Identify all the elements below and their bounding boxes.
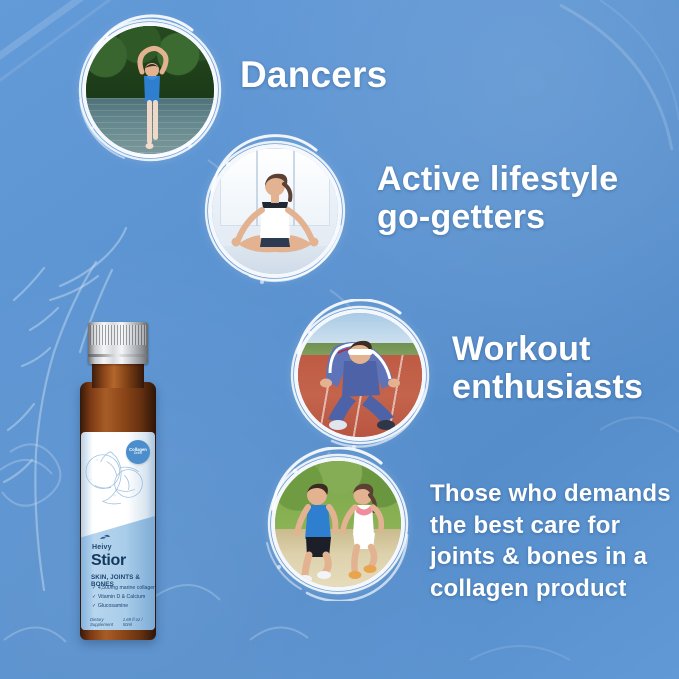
label-bullet-1: ✓ 4,500mg marine collagen xyxy=(92,585,155,591)
bubble-runner-photo xyxy=(298,313,422,437)
bubble-yoga xyxy=(212,148,338,274)
bottle-cap xyxy=(88,322,148,364)
label-bullet-1-text: 4,500mg marine collagen xyxy=(98,585,155,591)
headline-those-line2: the best care for xyxy=(430,510,671,542)
headline-dancers: Dancers xyxy=(240,54,387,95)
bubble-joggers xyxy=(275,461,401,587)
bubble-yoga-photo xyxy=(212,148,338,274)
headline-dancers-line1: Dancers xyxy=(240,54,387,95)
label-logo-mark xyxy=(81,432,155,630)
headline-those-line3: joints & bones in a xyxy=(430,541,671,573)
bottle-label: Collagen Drink Heivy Stior SKIN, JOINTS … xyxy=(81,432,155,630)
headline-active-line1: Active lifestyle xyxy=(377,160,618,198)
label-bullet-3: ✓ Glucosamine xyxy=(92,603,155,609)
product-bottle: Collagen Drink Heivy Stior SKIN, JOINTS … xyxy=(40,322,180,642)
label-footer-left: Dietary Supplement xyxy=(90,617,123,627)
bubble-runner xyxy=(298,313,422,437)
headline-active-line2: go-getters xyxy=(377,198,618,236)
check-icon: ✓ xyxy=(92,585,96,591)
headline-active-lifestyle: Active lifestyle go-getters xyxy=(377,160,618,236)
headline-best-care: Those who demands the best care for join… xyxy=(430,478,671,605)
headline-workout-line2: enthusiasts xyxy=(452,368,643,406)
label-product-name: Stior xyxy=(91,552,155,570)
bubble-dancer-photo xyxy=(86,26,214,154)
headline-workout-enthusiasts: Workout enthusiasts xyxy=(452,330,643,406)
headline-workout-line1: Workout xyxy=(452,330,643,368)
bubble-joggers-photo xyxy=(275,461,401,587)
label-brand: Heivy xyxy=(92,544,155,551)
check-icon: ✓ xyxy=(92,594,96,600)
bubble-dancer xyxy=(86,26,214,154)
label-bullet-2: ✓ Vitamin D & Calcium xyxy=(92,594,155,600)
check-icon: ✓ xyxy=(92,603,96,609)
product-marketing-banner: Dancers Active lifestyle go-getters Work… xyxy=(0,0,679,679)
headline-those-line1: Those who demands xyxy=(430,478,671,510)
label-bullet-3-text: Glucosamine xyxy=(98,603,128,609)
bottle-neck xyxy=(92,362,144,388)
headline-those-line4: collagen product xyxy=(430,573,671,605)
label-footer: Dietary Supplement 1.69 fl oz / 50ml xyxy=(90,617,149,627)
label-bullet-2-text: Vitamin D & Calcium xyxy=(98,594,145,600)
label-footer-right: 1.69 fl oz / 50ml xyxy=(123,617,149,627)
